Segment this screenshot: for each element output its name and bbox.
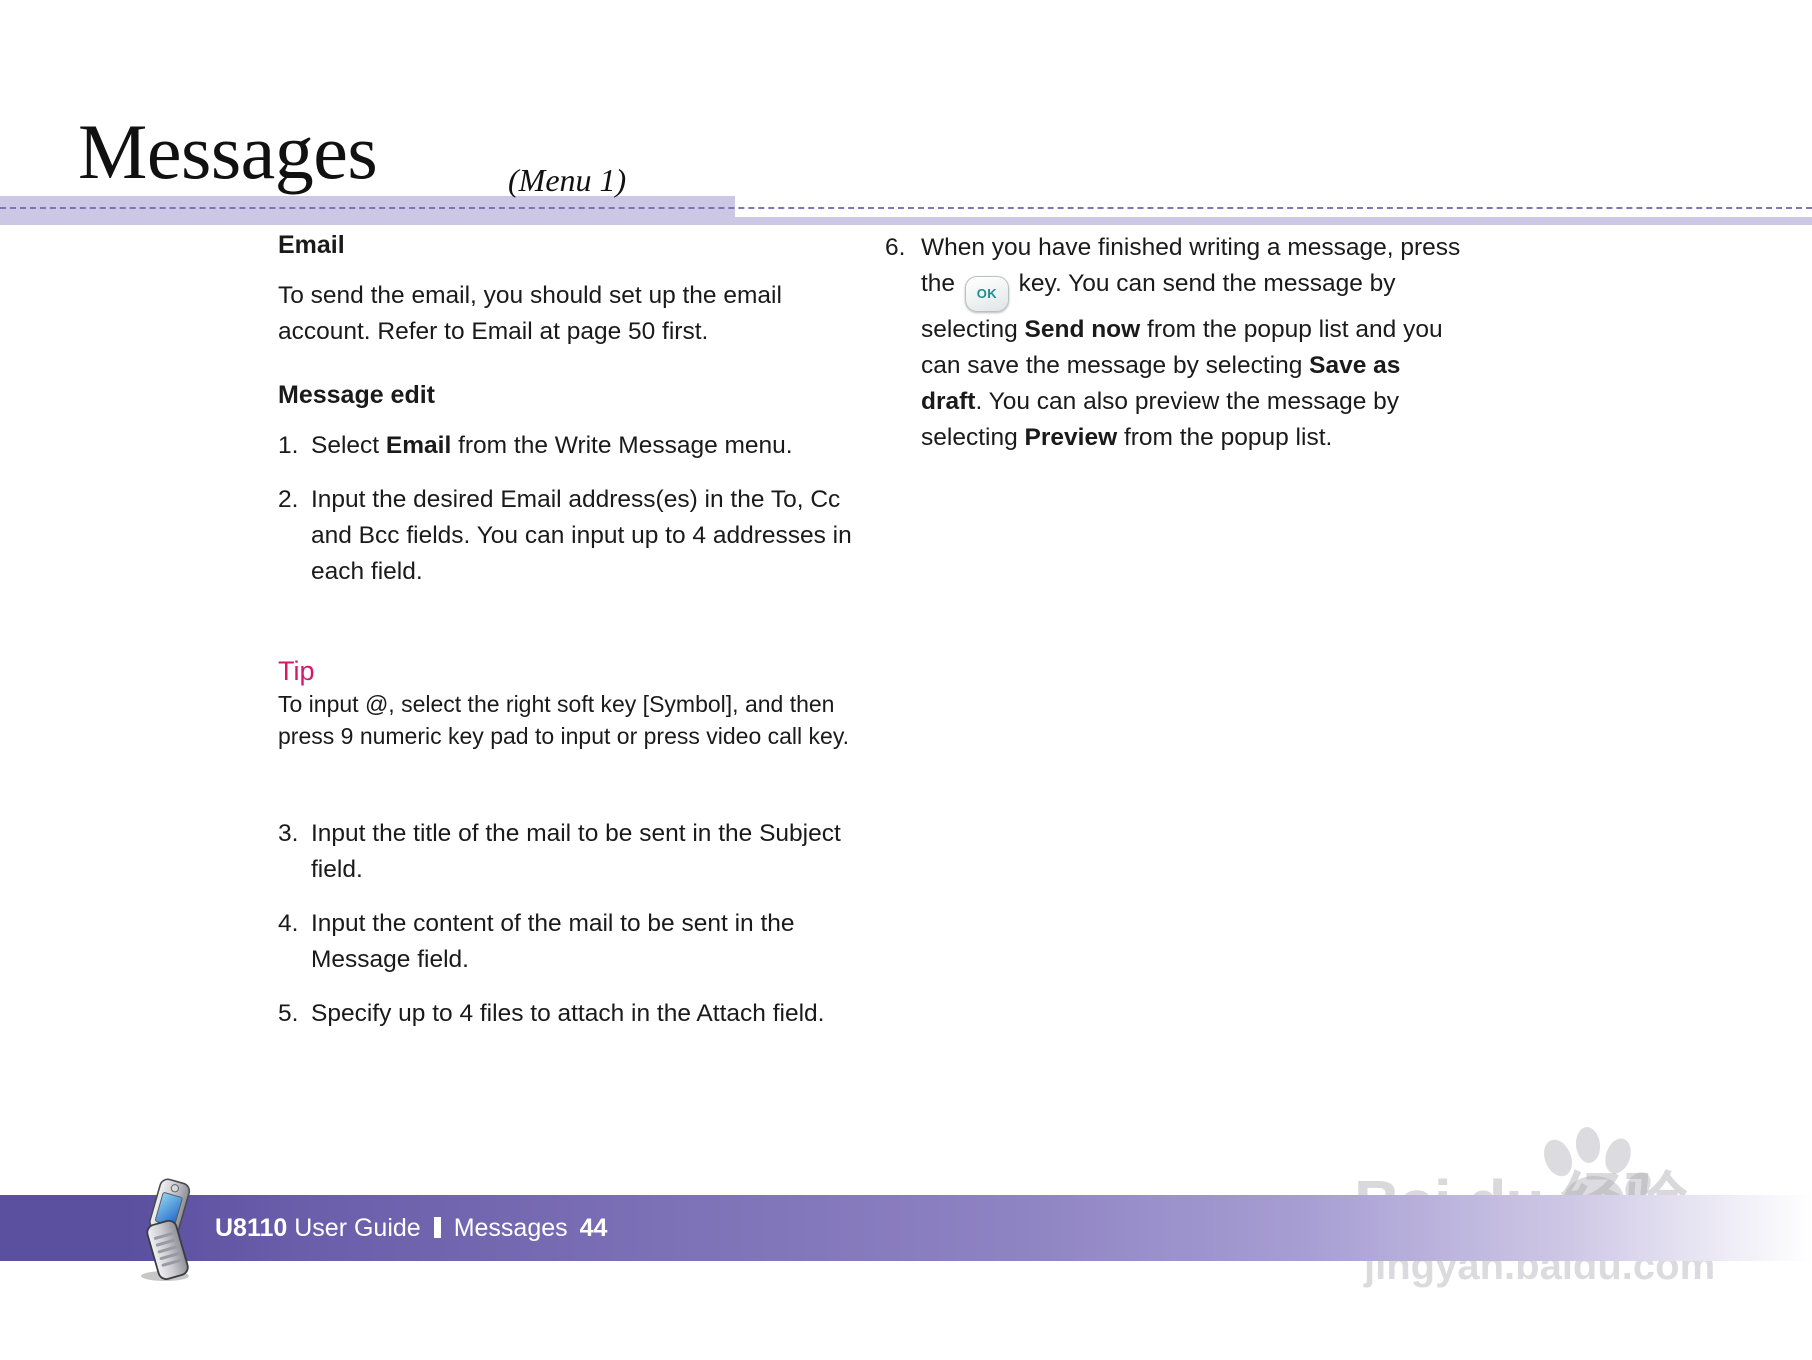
step-number: 1. <box>278 428 311 464</box>
tip-line-1: To input @, select the right soft key [S… <box>278 688 858 720</box>
step-number: 6. <box>885 230 921 266</box>
header-dashed-rule <box>0 207 1812 209</box>
footer-section: Messages <box>454 1214 568 1242</box>
footer-text: U8110 User GuideMessages44 <box>215 1195 607 1261</box>
list-item-step-4: 4.Input the content of the mail to be se… <box>278 906 858 978</box>
step6-part5: from the popup list. <box>1117 424 1332 451</box>
step6-bold-preview: Preview <box>1025 424 1118 451</box>
tip-block: Tip To input @, select the right soft ke… <box>278 654 858 752</box>
step-text: Input the desired Email address(es) in t… <box>311 486 852 585</box>
email-intro-paragraph: To send the email, you should set up the… <box>278 278 858 350</box>
list-item-step-6: 6.When you have finished writing a messa… <box>885 230 1465 456</box>
flip-phone-illustration <box>133 1178 205 1282</box>
header-band-thin <box>0 217 1812 225</box>
menu-reference: (Menu 1) <box>508 162 626 198</box>
footer-guide-label: User Guide <box>287 1214 420 1242</box>
list-item-step-2: 2.Input the desired Email address(es) in… <box>278 482 858 590</box>
step-number: 2. <box>278 482 311 518</box>
page-title: Messages <box>78 108 377 196</box>
step-text-bold: Email <box>386 432 451 459</box>
footer-left-stub <box>0 1195 128 1261</box>
footer-separator <box>434 1217 441 1238</box>
step6-bold-send-now: Send now <box>1025 316 1141 343</box>
step-text: Input the title of the mail to be sent i… <box>311 820 841 883</box>
step-text: Input the content of the mail to be sent… <box>311 910 795 973</box>
footer-model: U8110 <box>215 1214 287 1242</box>
step-text: Specify up to 4 files to attach in the A… <box>311 1000 824 1027</box>
heading-message-edit: Message edit <box>278 380 858 410</box>
page-content: Email To send the email, you should set … <box>0 230 1812 1190</box>
list-item-step-1: 1.Select Email from the Write Message me… <box>278 428 858 464</box>
left-column: Email To send the email, you should set … <box>278 230 858 1050</box>
step-text-lead: Select <box>311 432 386 459</box>
page-header: Messages (Menu 1) <box>0 0 1812 230</box>
ok-key-icon: OK <box>965 276 1009 312</box>
tip-heading: Tip <box>278 654 858 688</box>
step-text-tail: from the Write Message menu. <box>451 432 792 459</box>
step-number: 5. <box>278 996 311 1032</box>
list-item-step-5: 5.Specify up to 4 files to attach in the… <box>278 996 858 1032</box>
step-number: 3. <box>278 816 311 852</box>
page-footer: U8110 User GuideMessages44 <box>0 1195 1812 1261</box>
tip-line-2: press 9 numeric key pad to input or pres… <box>278 720 858 752</box>
heading-email: Email <box>278 230 858 260</box>
step-number: 4. <box>278 906 311 942</box>
right-column: 6.When you have finished writing a messa… <box>885 230 1465 474</box>
list-item-step-3: 3.Input the title of the mail to be sent… <box>278 816 858 888</box>
footer-page-number: 44 <box>580 1214 608 1242</box>
